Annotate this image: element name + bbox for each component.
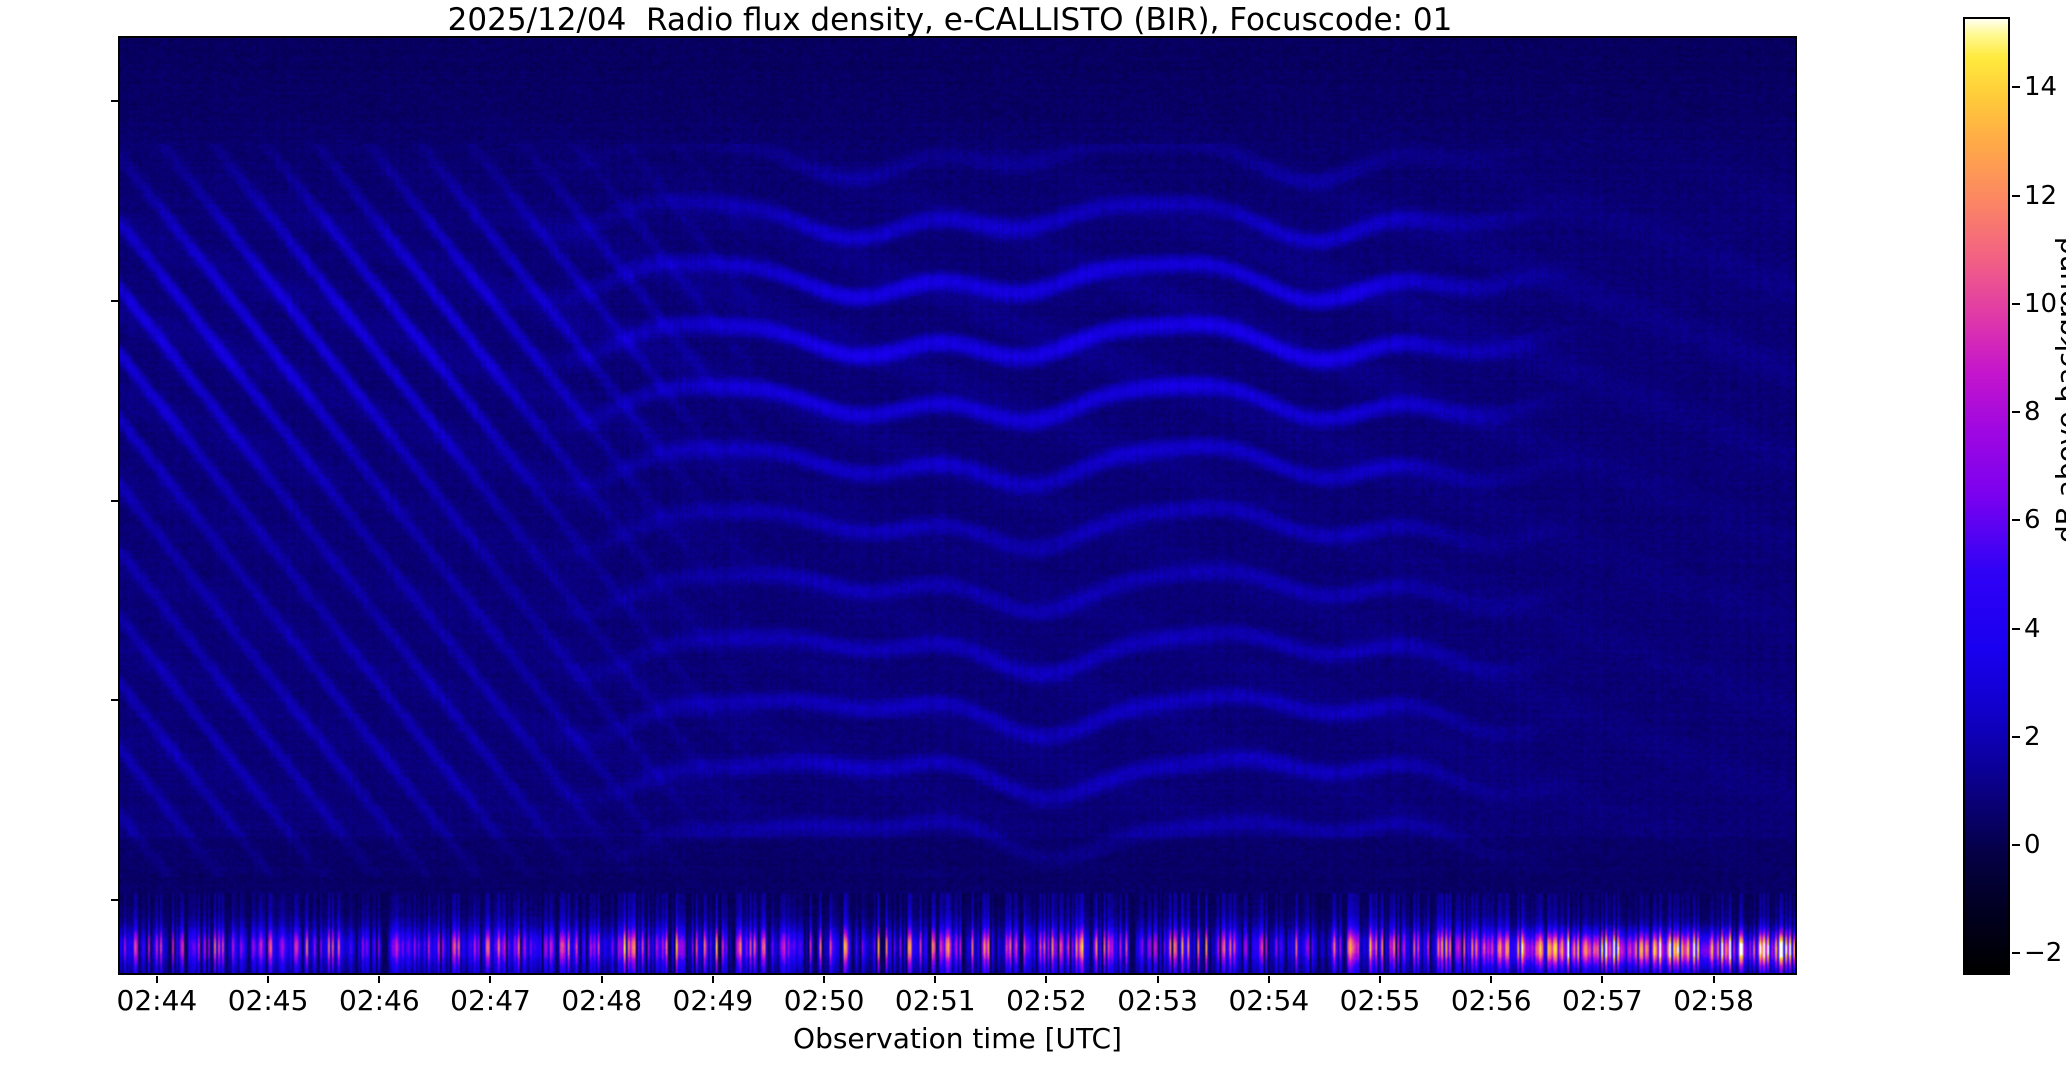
x-axis-tick-mark xyxy=(823,976,825,983)
x-axis-tick-mark xyxy=(934,976,936,983)
x-axis-tick-mark xyxy=(267,976,269,983)
colorbar xyxy=(1963,17,2010,975)
x-axis-tick-mark xyxy=(1268,976,1270,983)
x-axis-tick-mark xyxy=(601,976,603,983)
x-axis-tick-label: 02:44 xyxy=(117,984,198,1017)
colorbar-tick-mark xyxy=(2012,303,2020,305)
y-axis-tick-mark xyxy=(111,899,118,901)
y-axis-tick-mark xyxy=(111,100,118,102)
x-axis-tick-label: 02:53 xyxy=(1117,984,1198,1017)
x-axis-tick-label: 02:57 xyxy=(1562,984,1643,1017)
x-axis-tick-mark xyxy=(156,976,158,983)
spectrogram-plot-area xyxy=(118,36,1797,975)
x-axis-tick-mark xyxy=(1713,976,1715,983)
colorbar-gradient xyxy=(1965,19,2008,973)
colorbar-tick-mark xyxy=(2012,952,2020,954)
spectrogram-image xyxy=(120,38,1795,973)
x-axis-tick-label: 02:50 xyxy=(784,984,865,1017)
x-axis-tick-label: 02:55 xyxy=(1340,984,1421,1017)
colorbar-tick-label: 0 xyxy=(2024,830,2041,860)
x-axis-tick-label: 02:56 xyxy=(1451,984,1532,1017)
x-axis-tick-label: 02:46 xyxy=(339,984,420,1017)
colorbar-tick-mark xyxy=(2012,628,2020,630)
colorbar-tick-label: 4 xyxy=(2024,614,2041,644)
x-axis-tick-mark xyxy=(489,976,491,983)
colorbar-tick-mark xyxy=(2012,195,2020,197)
x-axis-tick-mark xyxy=(1601,976,1603,983)
colorbar-tick-mark xyxy=(2012,86,2020,88)
x-axis-tick-mark xyxy=(1045,976,1047,983)
x-axis-tick-label: 02:45 xyxy=(228,984,309,1017)
x-axis-tick-label: 02:58 xyxy=(1673,984,1754,1017)
colorbar-tick-mark xyxy=(2012,736,2020,738)
x-axis-tick-label: 02:47 xyxy=(450,984,531,1017)
colorbar-tick-label: 6 xyxy=(2024,505,2041,535)
x-axis-tick-label: 02:48 xyxy=(561,984,642,1017)
y-axis-tick-mark xyxy=(111,300,118,302)
colorbar-label: dB above background xyxy=(2050,10,2066,770)
colorbar-tick-mark xyxy=(2012,519,2020,521)
x-axis-tick-mark xyxy=(1157,976,1159,983)
x-axis-tick-mark xyxy=(1379,976,1381,983)
x-axis-tick-label: 02:54 xyxy=(1228,984,1309,1017)
colorbar-tick-label: −2 xyxy=(2024,938,2062,968)
x-axis-tick-label: 02:52 xyxy=(1006,984,1087,1017)
x-axis-tick-mark xyxy=(712,976,714,983)
x-axis-tick-mark xyxy=(1490,976,1492,983)
colorbar-tick-mark xyxy=(2012,844,2020,846)
colorbar-tick-label: 8 xyxy=(2024,397,2041,427)
colorbar-tick-mark xyxy=(2012,411,2020,413)
y-axis-tick-mark xyxy=(111,699,118,701)
spectrogram-figure: 2025/12/04 Radio flux density, e-CALLIST… xyxy=(0,0,2066,1067)
y-axis-tick-mark xyxy=(111,500,118,502)
x-axis-tick-label: 02:51 xyxy=(895,984,976,1017)
colorbar-tick-label: 2 xyxy=(2024,722,2041,752)
page-title: 2025/12/04 Radio flux density, e-CALLIST… xyxy=(0,2,1900,38)
x-axis-tick-label: 02:49 xyxy=(673,984,754,1017)
x-axis-tick-mark xyxy=(378,976,380,983)
x-axis-label: Observation time [UTC] xyxy=(118,1022,1797,1055)
